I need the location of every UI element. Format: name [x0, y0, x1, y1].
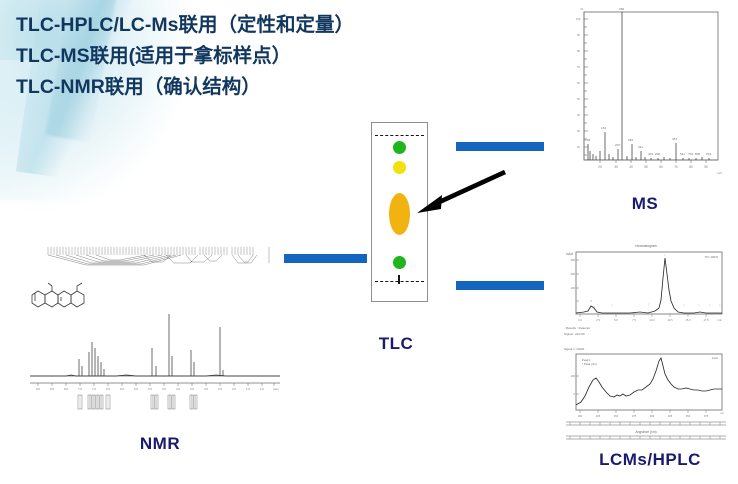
- svg-text:275: 275: [632, 414, 637, 418]
- svg-text:1.5: 1.5: [246, 387, 250, 391]
- svg-text:100: 100: [571, 374, 576, 378]
- svg-text:4.5: 4.5: [162, 387, 166, 391]
- svg-text:30: 30: [577, 129, 580, 133]
- svg-text:6.5: 6.5: [106, 387, 110, 391]
- svg-text:100: 100: [571, 286, 576, 290]
- nmr-spectrum-plot: 9.08.58.0 7.57.06.5 6.05.55.0 4.54.03.5 …: [26, 243, 284, 415]
- pointer-arrow: [405, 168, 510, 220]
- svg-text:70: 70: [674, 165, 678, 169]
- svg-text:100: 100: [576, 17, 581, 21]
- svg-text:325: 325: [668, 414, 673, 418]
- svg-text:250: 250: [619, 7, 624, 11]
- svg-text:200: 200: [571, 272, 576, 276]
- svg-text:%: %: [580, 7, 583, 11]
- svg-text:401: 401: [648, 152, 653, 156]
- svg-text:|: |: [684, 304, 685, 307]
- svg-text:0.0: 0.0: [578, 318, 582, 322]
- svg-text:TIC 100%: TIC 100%: [705, 255, 719, 259]
- svg-text:311: 311: [638, 145, 643, 149]
- nmr-spectrum-panel: 9.08.58.0 7.57.06.5 6.05.55.0 4.54.03.5 …: [26, 243, 284, 415]
- svg-text:|: |: [612, 304, 613, 307]
- nmr-peak-connectors: [48, 255, 269, 265]
- svg-text:7.0: 7.0: [92, 387, 96, 391]
- headline-block: TLC-HPLC/LC-Ms联用（定性和定量） TLC-MS联用(适用于拿标样点…: [16, 10, 456, 103]
- svg-text:300: 300: [650, 414, 655, 418]
- svg-text:60: 60: [659, 165, 663, 169]
- svg-text:90: 90: [577, 33, 580, 37]
- svg-text:200: 200: [578, 414, 583, 418]
- nmr-peak-list-ticks: [48, 247, 269, 255]
- svg-text:105: 105: [585, 138, 590, 142]
- svg-text:|: |: [699, 304, 700, 307]
- hplc-uv-panel: Signal 1: DAD1 mAU Peak 1 * Peak (nm) 10…: [560, 344, 732, 442]
- svg-text:350: 350: [686, 414, 691, 418]
- headline-line-1: TLC-HPLC/LC-Ms联用（定性和定量）: [16, 10, 456, 41]
- svg-text:6: 6: [593, 306, 595, 309]
- svg-text:4.0: 4.0: [176, 387, 180, 391]
- svg-text:ppm: ppm: [273, 387, 279, 391]
- molecular-structure: [32, 283, 84, 307]
- connector-bar-ms: [456, 142, 544, 151]
- svg-text:250: 250: [614, 414, 619, 418]
- svg-text:12.5: 12.5: [667, 318, 673, 322]
- caption-ms: MS: [632, 194, 659, 214]
- svg-text:457: 457: [672, 137, 677, 141]
- svg-text:80: 80: [577, 49, 580, 53]
- svg-text:511: 511: [680, 152, 685, 156]
- svg-text:: Results : Detector: : Results : Detector: [564, 326, 590, 330]
- ms-spectrum-plot: 1009080 706050 403020: [570, 4, 730, 182]
- nmr-peaks: [79, 314, 223, 376]
- svg-text:50: 50: [577, 97, 580, 101]
- lcms-chromatogram-panel: chromatogram mAU TIC 100% 300200100 46 |…: [560, 238, 732, 338]
- svg-text:2.5: 2.5: [596, 318, 600, 322]
- svg-text:15.0: 15.0: [685, 318, 691, 322]
- svg-text:Signal 1: DAD1: Signal 1: DAD1: [564, 347, 585, 351]
- svg-text:nm: nm: [720, 412, 724, 415]
- svg-text:Signal : 210.00: Signal : 210.00: [564, 332, 585, 336]
- svg-text:701: 701: [688, 152, 693, 156]
- svg-text:300: 300: [571, 258, 576, 262]
- svg-text:3.5: 3.5: [190, 387, 194, 391]
- svg-text:80: 80: [689, 165, 693, 169]
- svg-text:50: 50: [644, 165, 648, 169]
- svg-text:90: 90: [704, 165, 708, 169]
- svg-text:4: 4: [590, 300, 592, 303]
- tlc-baseline-tick: [398, 275, 400, 284]
- svg-text:225: 225: [596, 414, 601, 418]
- ms-spectrum-panel: 1009080 706050 403020: [570, 4, 730, 182]
- svg-text:281: 281: [628, 138, 633, 142]
- svg-text:375: 375: [704, 414, 709, 418]
- svg-text:30: 30: [614, 165, 618, 169]
- svg-text:5.5: 5.5: [134, 387, 138, 391]
- svg-text:60: 60: [577, 81, 580, 85]
- svg-text:20: 20: [598, 165, 602, 169]
- svg-text:8.5: 8.5: [50, 387, 54, 391]
- caption-tlc: TLC: [379, 334, 414, 354]
- svg-text:min: min: [718, 318, 723, 322]
- svg-text:m/z: m/z: [717, 171, 722, 175]
- hplc-uv-plot: Signal 1: DAD1 mAU Peak 1 * Peak (nm) 10…: [560, 344, 732, 442]
- svg-text:9.0: 9.0: [36, 387, 40, 391]
- svg-text:10.0: 10.0: [649, 318, 655, 322]
- svg-text:7.5: 7.5: [78, 387, 82, 391]
- svg-text:2.5: 2.5: [218, 387, 222, 391]
- svg-text:|: |: [710, 304, 711, 307]
- svg-text:161: 161: [601, 126, 606, 130]
- connector-bar-nmr: [277, 254, 367, 263]
- tlc-spot-green-top: [393, 141, 406, 154]
- svg-text:|: |: [720, 304, 721, 307]
- tlc-spot-green-low: [393, 256, 406, 269]
- svg-text:70: 70: [577, 65, 580, 69]
- headline-line-2: TLC-MS联用(适用于拿标样点）: [16, 41, 456, 72]
- svg-text:40: 40: [577, 113, 580, 117]
- connector-bar-lcms: [456, 281, 544, 290]
- svg-text:800: 800: [695, 152, 700, 156]
- svg-text:mAU: mAU: [712, 356, 718, 360]
- svg-text:1.0: 1.0: [260, 387, 264, 391]
- nmr-integral-blocks: [78, 395, 197, 409]
- svg-text:* Peak (nm): * Peak (nm): [582, 362, 597, 366]
- svg-text:mAU: mAU: [566, 252, 574, 256]
- svg-text:|: |: [649, 303, 650, 306]
- svg-text:|: |: [665, 254, 666, 257]
- svg-text:2.0: 2.0: [232, 387, 236, 391]
- svg-text:207: 207: [615, 143, 620, 147]
- headline-line-3: TLC-NMR联用（确认结构）: [16, 72, 456, 103]
- tlc-solvent-front-line: [375, 135, 424, 136]
- svg-text:40: 40: [629, 165, 633, 169]
- svg-text:5.0: 5.0: [614, 318, 618, 322]
- slide-canvas: TLC-HPLC/LC-Ms联用（定性和定量） TLC-MS联用(适用于拿标样点…: [0, 0, 738, 484]
- svg-text:Angstrom (nm): Angstrom (nm): [635, 430, 656, 434]
- svg-text:chromatogram: chromatogram: [635, 244, 657, 248]
- svg-text:8.0: 8.0: [64, 387, 68, 391]
- svg-text:20: 20: [577, 145, 580, 149]
- svg-text:7.5: 7.5: [632, 318, 636, 322]
- caption-nmr: NMR: [140, 434, 180, 454]
- svg-text:6.0: 6.0: [120, 387, 124, 391]
- lcms-chromatogram-plot: chromatogram mAU TIC 100% 300200100 46 |…: [560, 238, 732, 338]
- svg-text:0: 0: [574, 392, 576, 396]
- caption-lcms-hplc: LCMs/HPLC: [599, 450, 701, 470]
- svg-text:5.0: 5.0: [148, 387, 152, 391]
- svg-text:3.0: 3.0: [204, 387, 208, 391]
- svg-text:931: 931: [706, 152, 711, 156]
- svg-text:17.5: 17.5: [703, 318, 709, 322]
- svg-text:290: 290: [655, 152, 660, 156]
